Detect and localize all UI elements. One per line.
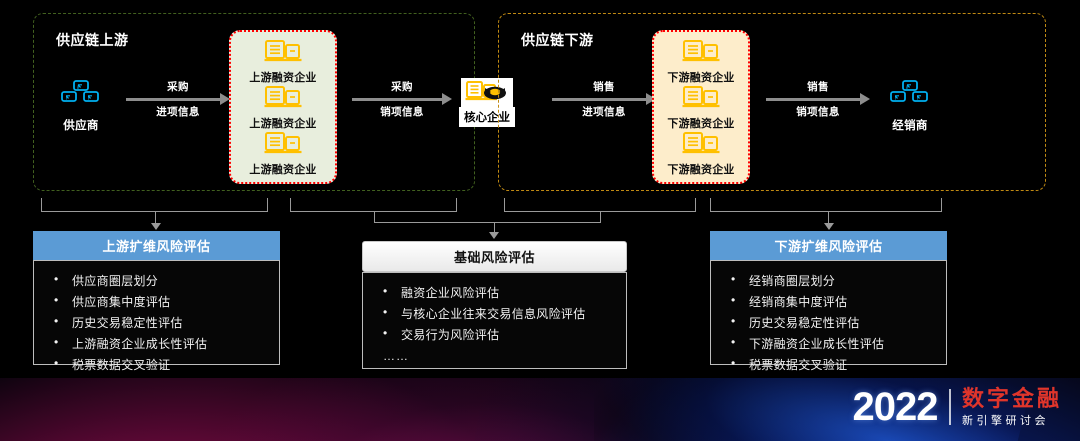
list-item: 下游融资企业成长性评估 xyxy=(727,333,936,354)
upstream-financing-enterprise-group: 上游融资企业 上游融资企业 xyxy=(229,30,337,184)
supplier-label: 供应商 xyxy=(44,117,118,133)
panel-upstream-header: 上游扩维风险评估 xyxy=(33,231,280,260)
connector-line xyxy=(710,211,942,212)
connector-line xyxy=(41,198,42,212)
list-item: 供应商圈层划分 xyxy=(50,270,269,291)
dealer-node: 经销商 xyxy=(873,80,947,133)
footer-banner: 2022 数字金融 新引擎研讨会 xyxy=(0,378,1080,441)
downstream-financing-enterprise-group: 下游融资企业 下游融资企业 xyxy=(652,30,750,184)
connector-arrow-down xyxy=(151,223,161,230)
list-item: 融资企业风险评估 xyxy=(379,282,616,303)
panel-upstream-body: 供应商圈层划分 供应商集中度评估 历史交易稳定性评估 上游融资企业成长性评估 税… xyxy=(33,260,280,365)
downstream-financing-label: 下游融资企业 xyxy=(667,69,734,85)
logo-year: 2022 xyxy=(853,387,938,427)
panel-base-body: 融资企业风险评估 与核心企业往来交易信息风险评估 交易行为风险评估 …… xyxy=(362,272,627,369)
connector-line xyxy=(941,198,942,212)
connector-line xyxy=(710,198,711,212)
panel-downstream-extended-risk: 下游扩维风险评估 经销商圈层划分 经销商集中度评估 历史交易稳定性评估 下游融资… xyxy=(710,231,947,365)
arrow-3-line xyxy=(552,98,647,101)
slide-canvas: 供应链上游 供应商 采购 进项信息 xyxy=(0,0,1080,441)
arrow-core-to-downstream: 销售 进项信息 xyxy=(552,78,656,122)
arrow-2-top-label: 采购 xyxy=(352,79,452,94)
logo-text-lockup: 数字金融 新引擎研讨会 xyxy=(962,388,1062,425)
list-item: 税票数据交叉验证 xyxy=(727,354,936,375)
logo-divider xyxy=(949,389,951,425)
list-item: 历史交易稳定性评估 xyxy=(727,312,936,333)
panel-downstream-header: 下游扩维风险评估 xyxy=(710,231,947,260)
list-item: 上游融资企业成长性评估 xyxy=(50,333,269,354)
downstream-financing-label: 下游融资企业 xyxy=(667,161,734,177)
arrow-1-line xyxy=(126,98,221,101)
upstream-financing-item: 上游融资企业 xyxy=(249,39,316,85)
event-logo: 2022 数字金融 新引擎研讨会 xyxy=(853,385,1063,429)
upstream-title: 供应链上游 xyxy=(56,30,129,50)
logo-title: 数字金融 xyxy=(962,388,1062,411)
panel-upstream-list: 供应商圈层划分 供应商集中度评估 历史交易稳定性评估 上游融资企业成长性评估 税… xyxy=(50,270,269,375)
connector-line xyxy=(695,198,696,212)
list-item: 交易行为风险评估 xyxy=(379,324,616,345)
arrow-3-bottom-label: 进项信息 xyxy=(552,104,656,119)
downstream-financing-item: 下游融资企业 xyxy=(667,131,734,177)
network-nodes-icon xyxy=(58,80,104,108)
arrow-4-top-label: 销售 xyxy=(766,79,870,94)
list-item: 供应商集中度评估 xyxy=(50,291,269,312)
list-item: 与核心企业往来交易信息风险评估 xyxy=(379,303,616,324)
logo-subtitle: 新引擎研讨会 xyxy=(962,415,1062,426)
connector-line xyxy=(374,222,494,223)
upstream-financing-label: 上游融资企业 xyxy=(249,115,316,131)
connector-arrow-down xyxy=(489,232,499,239)
downstream-financing-item: 下游融资企业 xyxy=(667,39,734,85)
connector-line xyxy=(456,198,457,212)
panel-downstream-body: 经销商圈层划分 经销商集中度评估 历史交易稳定性评估 下游融资企业成长性评估 税… xyxy=(710,260,947,365)
list-item-ellipsis: …… xyxy=(379,345,616,366)
list-item: 经销商集中度评估 xyxy=(727,291,936,312)
panel-downstream-list: 经销商圈层划分 经销商集中度评估 历史交易稳定性评估 下游融资企业成长性评估 税… xyxy=(727,270,936,375)
downstream-financing-label: 下游融资企业 xyxy=(667,115,734,131)
list-item: 历史交易稳定性评估 xyxy=(50,312,269,333)
arrow-downstream-to-dealer: 销售 销项信息 xyxy=(766,78,870,122)
connector-line xyxy=(494,222,601,223)
arrow-1-top-label: 采购 xyxy=(126,79,230,94)
connector-line xyxy=(267,198,268,212)
panel-base-header: 基础风险评估 xyxy=(362,241,627,272)
document-book-icon xyxy=(682,85,720,109)
panel-base-risk: 基础风险评估 融资企业风险评估 与核心企业往来交易信息风险评估 交易行为风险评估… xyxy=(362,241,627,369)
panel-upstream-extended-risk: 上游扩维风险评估 供应商圈层划分 供应商集中度评估 历史交易稳定性评估 上游融资… xyxy=(33,231,280,365)
supplier-node: 供应商 xyxy=(44,80,118,133)
upstream-financing-label: 上游融资企业 xyxy=(249,161,316,177)
upstream-financing-label: 上游融资企业 xyxy=(249,69,316,85)
arrow-4-line xyxy=(766,98,861,101)
connector-arrow-down xyxy=(824,223,834,230)
downstream-financing-item: 下游融资企业 xyxy=(667,85,734,131)
arrow-4-bottom-label: 销项信息 xyxy=(766,104,870,119)
document-book-icon xyxy=(682,131,720,155)
document-book-icon xyxy=(264,39,302,63)
document-book-icon xyxy=(682,39,720,63)
dealer-label: 经销商 xyxy=(873,117,947,133)
panel-base-list: 融资企业风险评估 与核心企业往来交易信息风险评估 交易行为风险评估 …… xyxy=(379,282,616,366)
network-nodes-icon xyxy=(887,80,933,108)
upstream-financing-item: 上游融资企业 xyxy=(249,131,316,177)
arrow-upstream-to-core: 采购 销项信息 xyxy=(352,78,452,122)
list-item: 税票数据交叉验证 xyxy=(50,354,269,375)
downstream-title: 供应链下游 xyxy=(521,30,594,50)
document-book-icon xyxy=(264,85,302,109)
arrow-2-line xyxy=(352,98,443,101)
arrow-2-bottom-label: 销项信息 xyxy=(352,104,452,119)
arrow-3-top-label: 销售 xyxy=(552,79,656,94)
upstream-financing-item: 上游融资企业 xyxy=(249,85,316,131)
arrow-1-bottom-label: 进项信息 xyxy=(126,104,230,119)
document-book-icon xyxy=(264,131,302,155)
connector-line xyxy=(504,198,505,212)
arrow-supplier-to-upstream: 采购 进项信息 xyxy=(126,78,230,122)
list-item: 经销商圈层划分 xyxy=(727,270,936,291)
connector-line xyxy=(290,198,291,212)
